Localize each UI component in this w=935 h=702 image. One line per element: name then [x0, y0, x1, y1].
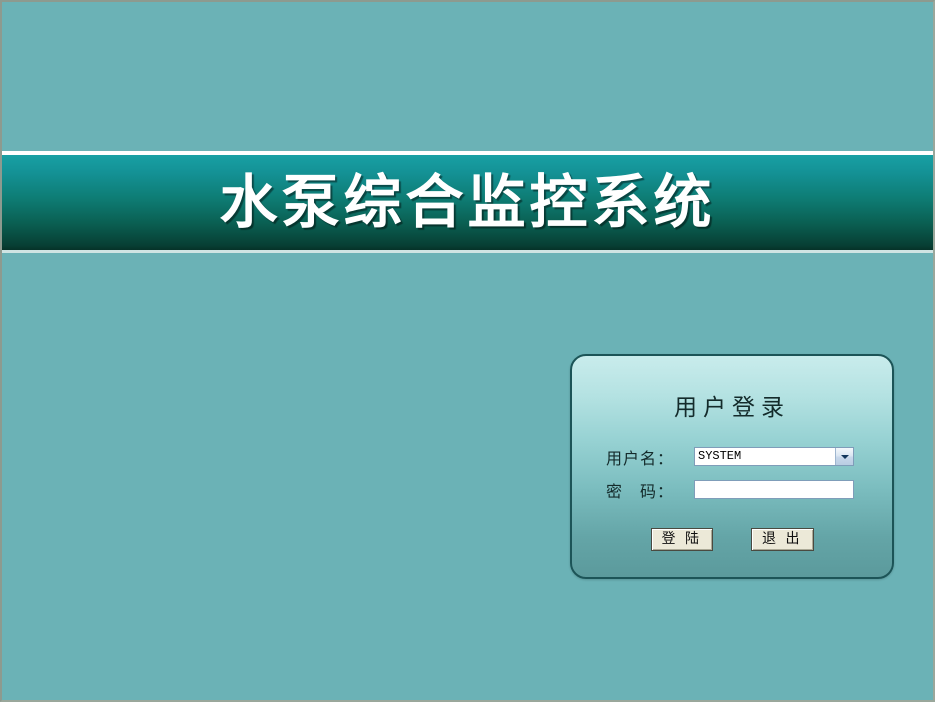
username-select[interactable]: SYSTEM	[694, 447, 854, 466]
password-input[interactable]	[694, 480, 854, 499]
title-banner: 水泵综合监控系统	[2, 155, 933, 250]
exit-button[interactable]: 退 出	[751, 528, 814, 551]
username-dropdown-button[interactable]	[835, 448, 853, 465]
login-button[interactable]: 登 陆	[651, 528, 714, 551]
login-form: 用户名： SYSTEM 密 码：	[572, 442, 892, 504]
login-panel: 用户登录 用户名： SYSTEM 密 码： 登 陆 退 出	[570, 354, 894, 579]
username-selected-value: SYSTEM	[695, 448, 835, 465]
application-window: 水泵综合监控系统 用户登录 用户名： SYSTEM 密 码： 登 陆 退	[0, 0, 935, 702]
login-panel-heading: 用户登录	[572, 388, 892, 422]
banner-bottom-divider	[2, 250, 933, 253]
password-row: 密 码：	[606, 475, 892, 504]
username-row: 用户名： SYSTEM	[606, 442, 892, 471]
chevron-down-icon	[841, 455, 849, 459]
password-label: 密 码：	[606, 478, 694, 502]
login-button-bar: 登 陆 退 出	[572, 528, 892, 551]
page-title: 水泵综合监控系统	[219, 174, 715, 232]
username-label: 用户名：	[606, 445, 694, 469]
header-blank-band	[2, 2, 933, 151]
